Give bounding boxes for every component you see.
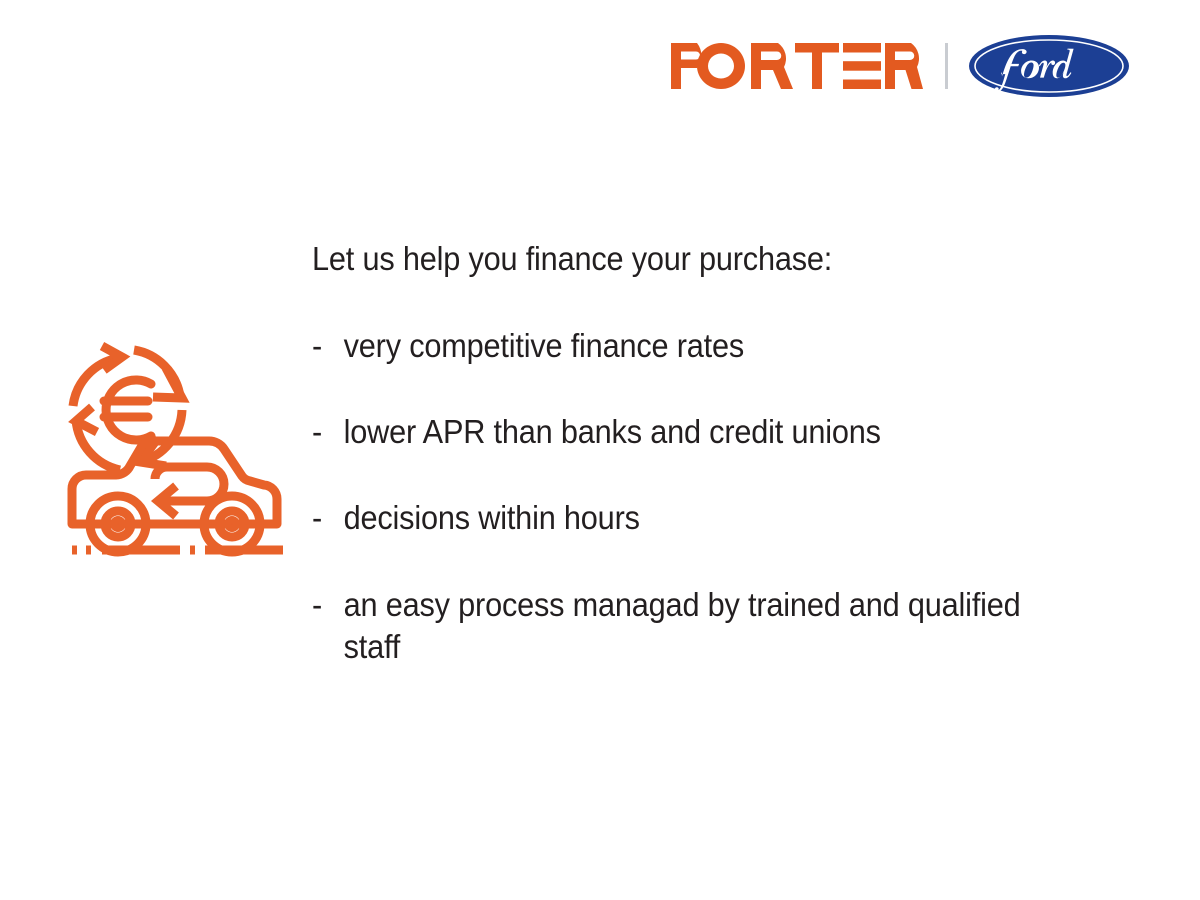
ford-logo: Ford: [968, 34, 1130, 98]
benefits-list: - very competitive finance rates - lower…: [312, 325, 1112, 668]
copy-block: Let us help you finance your purchase: -…: [312, 240, 1112, 668]
bullet-dash-icon: -: [312, 584, 344, 626]
car-euro-finance-icon: [58, 328, 294, 566]
slide-canvas: PORTER Ford: [0, 0, 1200, 900]
list-item-label: lower APR than banks and credit unions: [344, 411, 881, 453]
list-item-label: an easy process managad by trained and q…: [344, 584, 1056, 668]
bullet-dash-icon: -: [312, 411, 344, 453]
list-item: - very competitive finance rates: [312, 325, 1056, 367]
brand-lockup: PORTER Ford: [671, 33, 1130, 99]
page-title: Let us help you finance your purchase:: [312, 240, 1056, 279]
brand-divider: [945, 43, 948, 89]
list-item-label: decisions within hours: [344, 497, 640, 539]
bullet-dash-icon: -: [312, 325, 344, 367]
porter-logotype-icon: [671, 43, 923, 89]
porter-wordmark: PORTER: [671, 43, 923, 89]
ford-logo-label: Ford: [968, 98, 969, 99]
list-item-label: very competitive finance rates: [344, 325, 744, 367]
list-item: - decisions within hours: [312, 497, 1056, 539]
list-item: - an easy process managad by trained and…: [312, 584, 1056, 668]
list-item: - lower APR than banks and credit unions: [312, 411, 1056, 453]
ford-oval-icon: [968, 34, 1130, 98]
car-euro-finance-glyph: [58, 328, 294, 566]
bullet-dash-icon: -: [312, 497, 344, 539]
